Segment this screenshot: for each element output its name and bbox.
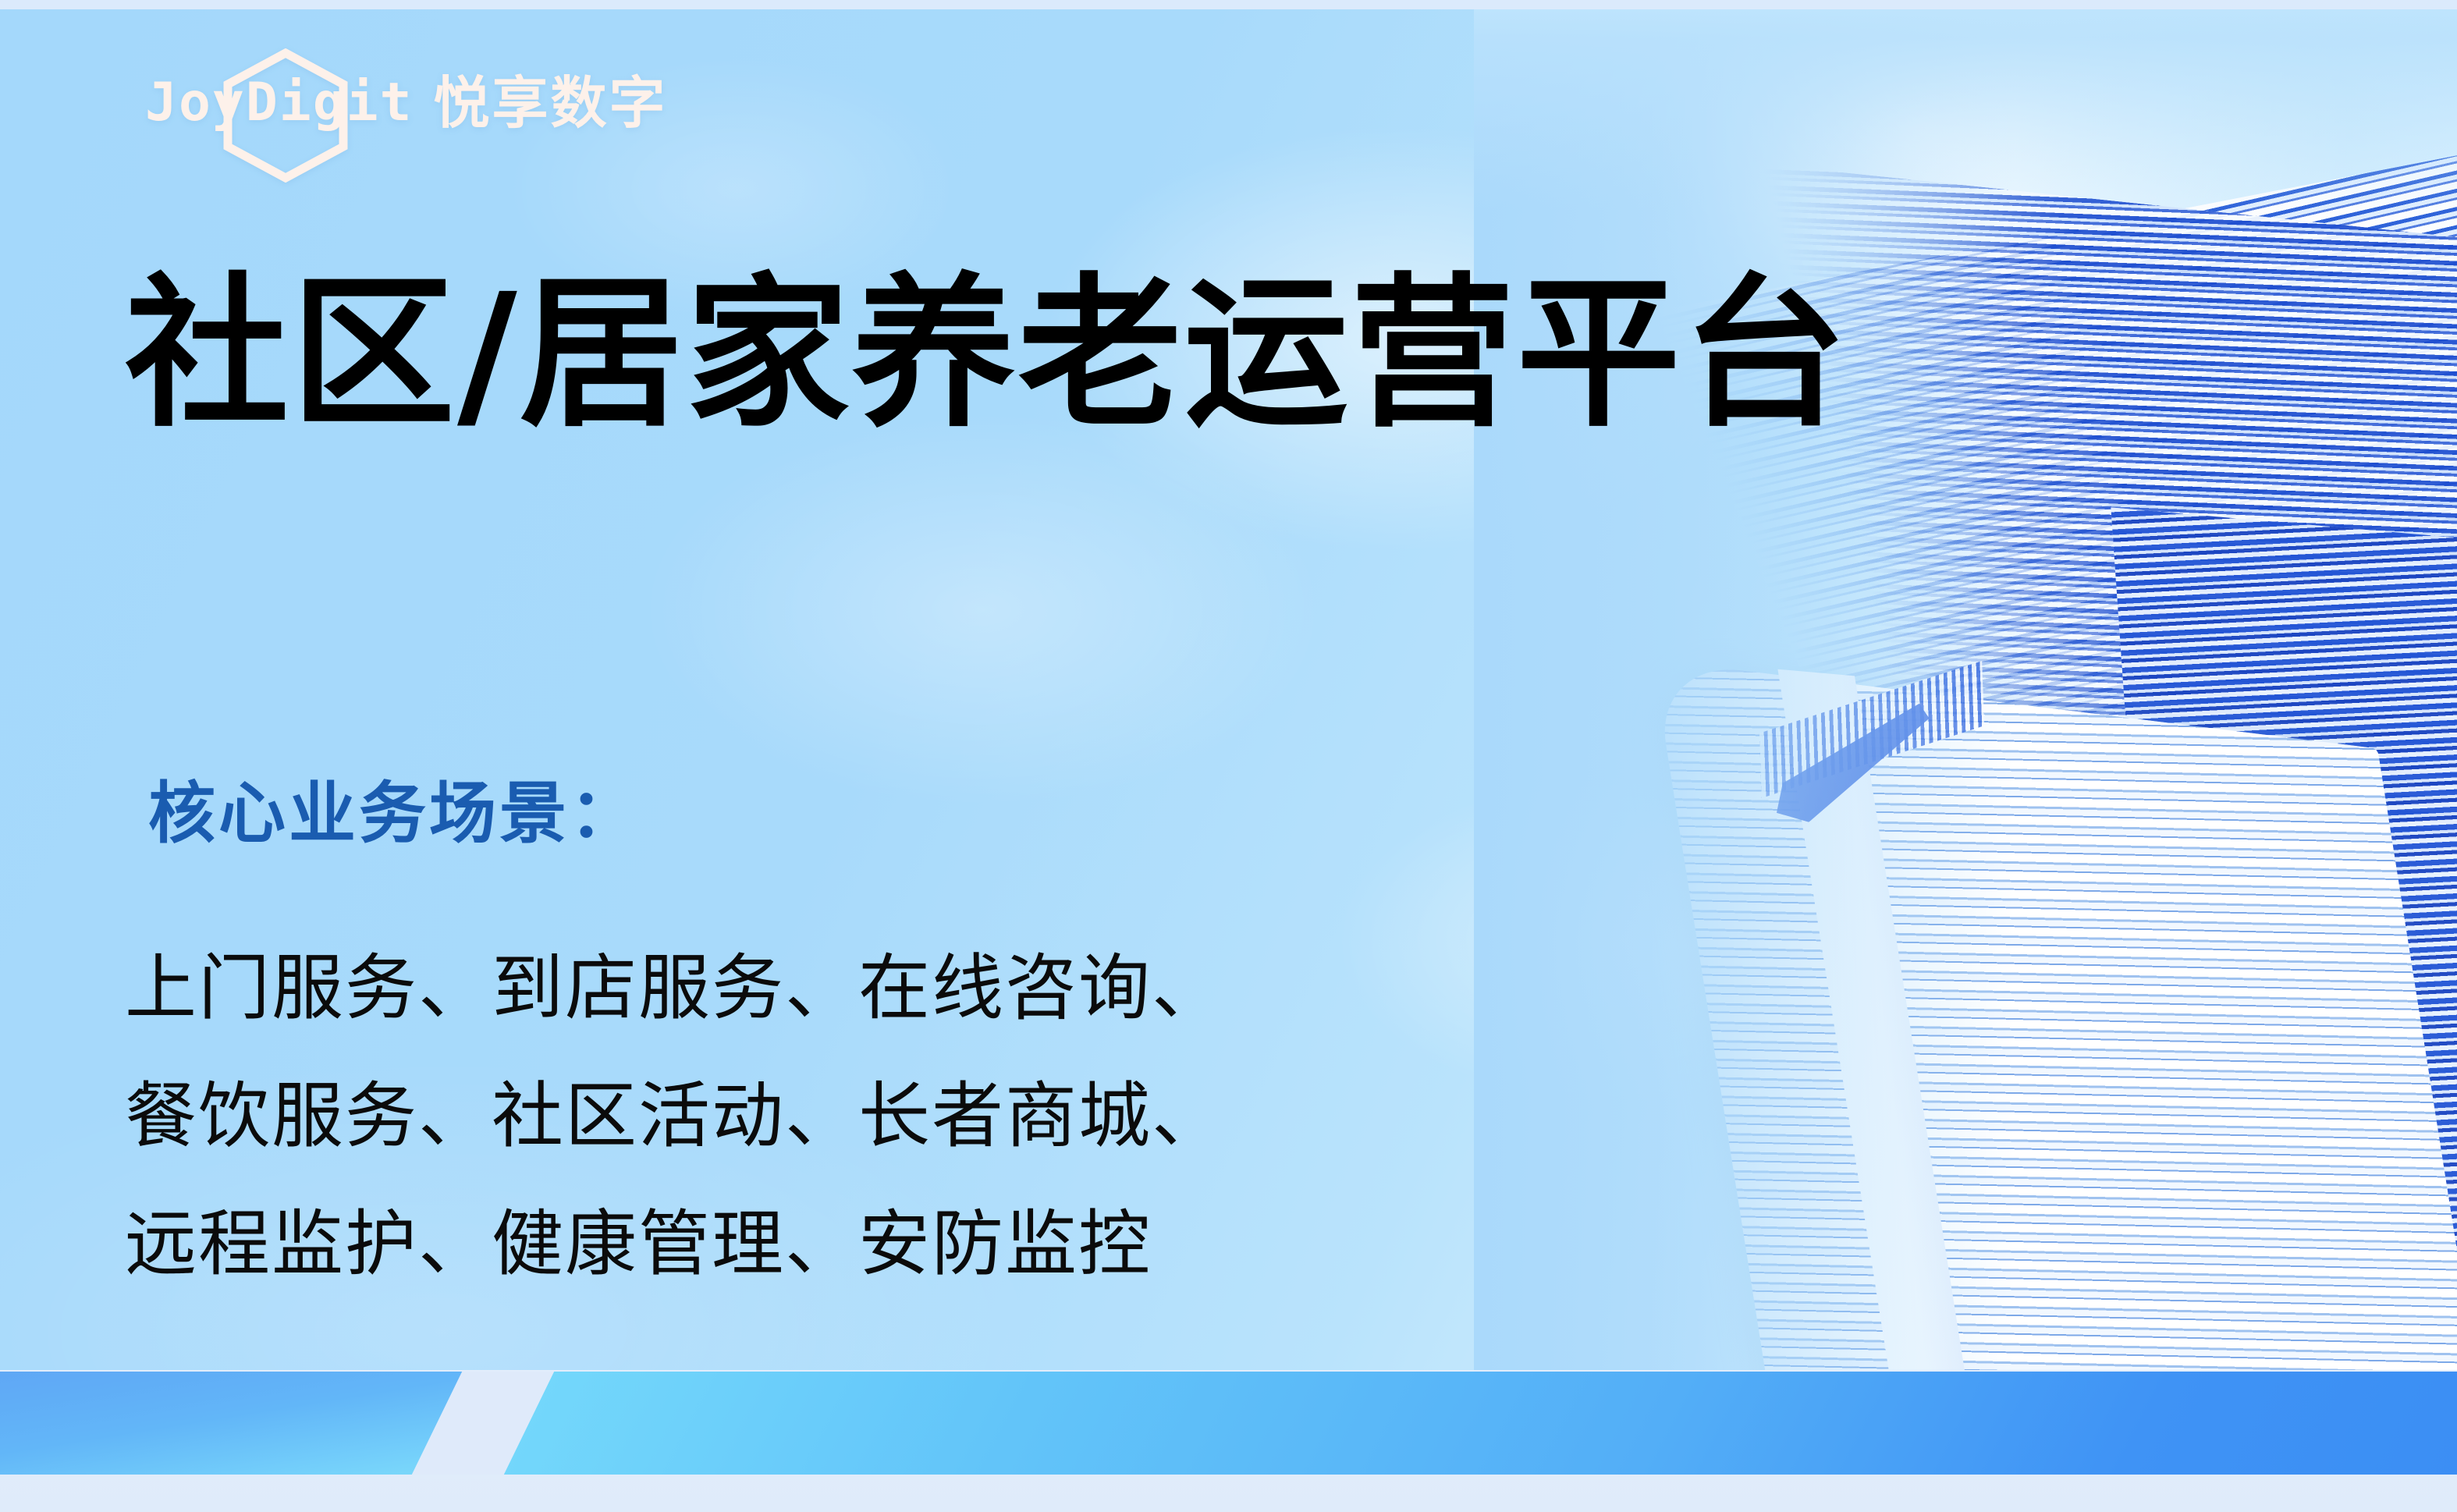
- logo-mark: JoyDigit: [145, 76, 414, 130]
- logo-latin-text: JoyDigit: [145, 76, 414, 130]
- top-edge-strip: [0, 0, 2457, 9]
- photo-top-fade: [1474, 8, 2457, 211]
- logo-chinese-text: 悦享数字: [434, 75, 668, 131]
- brand-logo[interactable]: JoyDigit 悦享数字: [145, 75, 668, 131]
- section-heading: 核心业务场景：: [148, 780, 640, 847]
- scenario-line: 上门服务、到店服务、在线咨询、: [125, 925, 1225, 1052]
- slide-canvas: JoyDigit 悦享数字 社区/居家养老运营平台 核心业务场景： 上门服务、到…: [0, 0, 2457, 1512]
- scenario-line: 远程监护、健康管理、安防监控: [125, 1180, 1225, 1308]
- scenario-line: 餐饮服务、社区活动、长者商城、: [125, 1052, 1225, 1180]
- skyscraper-photo: [1474, 8, 2457, 1381]
- scenario-list: 上门服务、到店服务、在线咨询、 餐饮服务、社区活动、长者商城、 远程监护、健康管…: [125, 925, 1225, 1308]
- page-title: 社区/居家养老运营平台: [125, 262, 1849, 445]
- footer-accent-band: [0, 1372, 2457, 1475]
- band-shape-right: [474, 1372, 2457, 1475]
